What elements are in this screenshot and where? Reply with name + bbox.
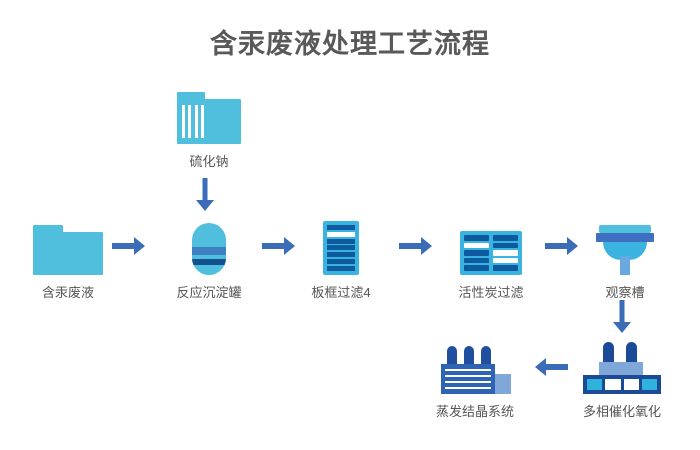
arrow-right-icon	[112, 236, 146, 256]
filter-plate	[327, 245, 355, 250]
tank-band-mid	[192, 247, 226, 255]
chimney	[464, 346, 474, 366]
arrow-down-icon	[612, 300, 632, 334]
factory-line	[445, 381, 491, 383]
chimney	[603, 342, 614, 364]
factory-lines	[445, 369, 491, 389]
carbon-filter-icon-wrap	[431, 205, 551, 275]
carbon-bar	[493, 265, 518, 271]
node-catalytic-oxidation[interactable]: 多相催化氧化	[562, 340, 682, 420]
carbon-bar	[464, 250, 489, 256]
funnel-band	[596, 233, 654, 242]
carbon-bar	[493, 235, 518, 241]
filter-plate-blank	[327, 232, 355, 237]
folder-stripes	[182, 105, 204, 138]
arrow-catalytic-to-evaporation	[534, 357, 568, 377]
node-label-observation-tank: 观察槽	[565, 282, 685, 301]
arrow-left-icon	[534, 357, 568, 377]
funnel-stem	[620, 256, 630, 275]
filter-plate	[327, 225, 355, 230]
evaporation-icon-wrap	[415, 340, 535, 394]
factory-line	[445, 369, 491, 371]
chimney	[626, 342, 637, 364]
node-label-evaporation-crystallization: 蒸发结晶系统	[415, 401, 535, 420]
folder-icon	[33, 225, 103, 275]
node-observation-tank[interactable]: 观察槽	[565, 205, 685, 301]
funnel-plate	[599, 225, 651, 233]
stripe	[182, 105, 185, 138]
base-segment	[605, 379, 620, 390]
arrow-right-icon	[399, 236, 433, 256]
arrow-waste-to-reaction	[112, 236, 146, 256]
catalytic-oxidation-icon-wrap	[562, 340, 682, 394]
carbon-bar	[493, 243, 518, 249]
reaction-tank-icon-wrap	[149, 205, 269, 275]
activated-carbon-filter-icon	[460, 231, 522, 275]
stripe	[188, 105, 191, 138]
observation-tank-icon-wrap	[565, 205, 685, 275]
factory-line	[445, 387, 491, 389]
node-sodium-sulfide[interactable]: 硫化钠	[149, 88, 269, 170]
factory-base	[583, 375, 661, 394]
node-label-waste-liquid: 含汞废液	[8, 282, 128, 301]
node-carbon-filter[interactable]: 活性炭过滤	[431, 205, 551, 301]
node-label-reaction-tank: 反应沉淀罐	[149, 282, 269, 301]
carbon-bar	[464, 265, 489, 271]
carbon-bar-blank	[464, 243, 489, 249]
folder-striped-icon	[177, 92, 241, 144]
node-evaporation-crystallization[interactable]: 蒸发结晶系统	[415, 340, 535, 420]
base-segment-cyan	[642, 379, 657, 390]
sodium-sulfide-icon-wrap	[149, 88, 269, 144]
factory-line	[445, 375, 491, 377]
carbon-bar-blank	[493, 250, 518, 256]
base-segment-cyan	[587, 379, 602, 390]
node-label-catalytic-oxidation: 多相催化氧化	[562, 401, 682, 420]
filter-plate	[327, 266, 355, 271]
stripe	[195, 105, 198, 138]
base-segment	[624, 379, 639, 390]
waste-liquid-icon-wrap	[8, 205, 128, 275]
carbon-bar	[464, 235, 489, 241]
node-label-sodium-sulfide: 硫化钠	[149, 151, 269, 170]
stripe	[201, 105, 204, 138]
chimney	[481, 346, 491, 366]
node-plate-filter[interactable]: 板框过滤4	[281, 205, 401, 301]
plate-frame-filter-icon	[323, 221, 359, 275]
arrow-down-to-catalytic-oxidation	[612, 300, 632, 334]
node-reaction-tank[interactable]: 反应沉淀罐	[149, 205, 269, 301]
filter-plate	[327, 259, 355, 264]
folder-body	[33, 232, 103, 275]
factory-body	[599, 362, 643, 376]
tank-band-dark	[192, 259, 226, 265]
carbon-bar	[464, 258, 489, 264]
filter-plate	[327, 252, 355, 257]
node-waste-liquid[interactable]: 含汞废液	[8, 205, 128, 301]
plate-filter-icon-wrap	[281, 205, 401, 275]
carbon-bar-blank	[493, 258, 518, 264]
arrow-plate-to-carbon	[399, 236, 433, 256]
filter-plate	[327, 239, 355, 244]
funnel-icon	[596, 225, 654, 275]
factory-two-stack-icon	[583, 342, 661, 394]
chimney	[447, 346, 457, 366]
node-label-plate-filter: 板框过滤4	[281, 282, 401, 301]
capsule-tank-icon	[192, 223, 226, 275]
node-label-carbon-filter: 活性炭过滤	[431, 282, 551, 301]
page-title: 含汞废液处理工艺流程	[0, 22, 700, 61]
process-flow-diagram: 含汞废液处理工艺流程 硫化钠	[0, 0, 700, 450]
factory-three-stack-icon	[439, 346, 511, 394]
